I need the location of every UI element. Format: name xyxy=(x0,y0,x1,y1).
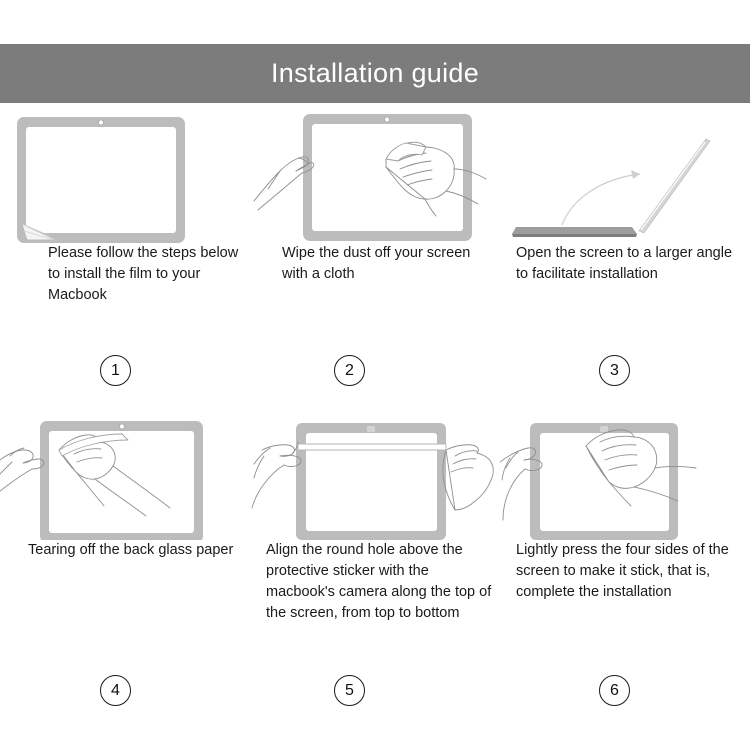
step-cell-1: Please follow the steps below to install… xyxy=(0,103,250,404)
steps-row-1: Please follow the steps below to install… xyxy=(0,103,750,404)
page-title: Installation guide xyxy=(271,60,479,87)
step-number-badge-3: 3 xyxy=(599,355,630,386)
step-number-badge-6: 6 xyxy=(599,675,630,706)
step-cell-3: Open the screen to a larger angle to fac… xyxy=(500,103,750,404)
step-cell-4: Tearing off the back glass paper 4 xyxy=(0,404,250,750)
step-badge-wrap-3: 3 xyxy=(500,355,750,386)
steps-grid: Please follow the steps below to install… xyxy=(0,103,750,750)
illustration-aligning-film-two-hands xyxy=(250,404,500,540)
step-caption-3: Open the screen to a larger angle to fac… xyxy=(500,243,750,285)
illustration-hands-wiping-screen xyxy=(250,103,500,243)
illustration-laptop-open-angle xyxy=(500,103,750,243)
step-number-badge-1: 1 xyxy=(100,355,131,386)
illustration-peeling-back-paper xyxy=(0,404,250,540)
illustration-screen-with-peeling-film xyxy=(0,103,250,243)
illustration-pressing-film-onto-screen xyxy=(500,404,750,540)
step-caption-5: Align the round hole above the protectiv… xyxy=(250,540,500,624)
step-caption-4: Tearing off the back glass paper xyxy=(0,540,250,561)
step-caption-2: Wipe the dust off your screen with a clo… xyxy=(250,243,500,285)
steps-row-2: Tearing off the back glass paper 4 xyxy=(0,404,750,750)
step-cell-6: Lightly press the four sides of the scre… xyxy=(500,404,750,750)
header-bar: Installation guide xyxy=(0,44,750,103)
step-caption-6: Lightly press the four sides of the scre… xyxy=(500,540,750,603)
step-badge-wrap-6: 6 xyxy=(500,675,750,706)
step-number-badge-2: 2 xyxy=(334,355,365,386)
step-cell-5: Align the round hole above the protectiv… xyxy=(250,404,500,750)
step-caption-1: Please follow the steps below to install… xyxy=(0,243,250,306)
step-number-badge-4: 4 xyxy=(100,675,131,706)
step-cell-2: Wipe the dust off your screen with a clo… xyxy=(250,103,500,404)
step-number-badge-5: 5 xyxy=(334,675,365,706)
